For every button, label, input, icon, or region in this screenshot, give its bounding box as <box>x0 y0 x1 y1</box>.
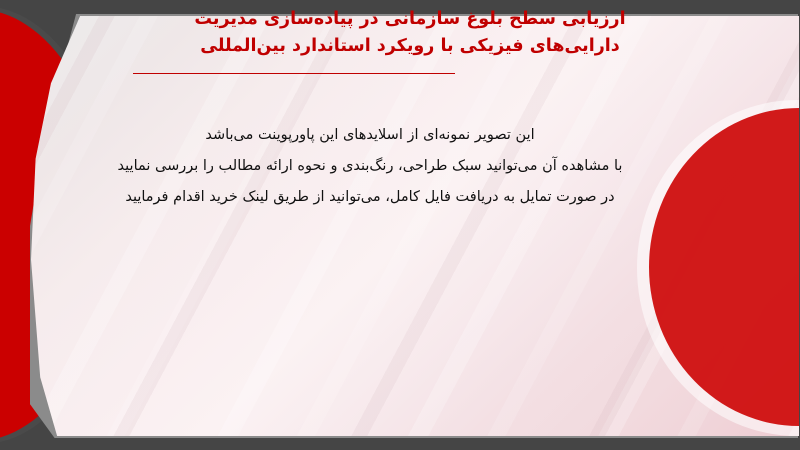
slide-body: این تصویر نمونه‌ای از اسلایدهای این پاور… <box>60 120 680 213</box>
presentation-slide: ارزیابی سطح بلوغ سازمانی در پیاده‌سازی م… <box>0 0 800 450</box>
slide-title-line-1: ارزیابی سطح بلوغ سازمانی در پیاده‌سازی م… <box>100 6 720 33</box>
body-line-3: در صورت تمایل به دریافت فایل کامل، می‌تو… <box>60 182 680 213</box>
slide-title-line-2: دارایی‌های فیزیکی با رویکرد استاندارد بی… <box>100 33 720 60</box>
title-divider-rule <box>133 73 455 74</box>
body-line-1: این تصویر نمونه‌ای از اسلایدهای این پاور… <box>60 120 680 151</box>
body-line-2: با مشاهده آن می‌توانید سبک طراحی، رنگ‌بن… <box>60 151 680 182</box>
slide-title: ارزیابی سطح بلوغ سازمانی در پیاده‌سازی م… <box>100 6 720 60</box>
content-panel <box>31 16 799 436</box>
